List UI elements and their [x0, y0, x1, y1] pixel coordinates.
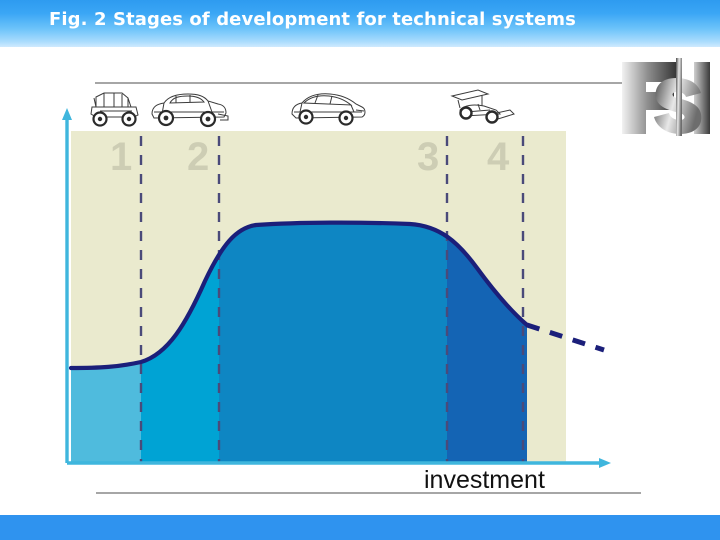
curve-area-fills — [71, 223, 527, 463]
slide-footer-bar: © 2001 Feasibility Study Institute Corp. — [0, 515, 720, 540]
y-axis-arrow — [62, 108, 72, 463]
x-axis-label: investment — [424, 466, 545, 495]
stage-number-3: 3 — [417, 137, 439, 177]
bottom-divider-rule — [96, 492, 641, 494]
stage-number-2: 2 — [187, 137, 209, 177]
development-s-curve-chart — [0, 0, 720, 540]
curve-extrapolation-dashed — [527, 325, 604, 350]
stage-number-1: 1 — [110, 137, 132, 177]
slide-canvas: Fig. 2 Stages of development for technic… — [0, 0, 720, 540]
stage-number-4: 4 — [487, 137, 509, 177]
